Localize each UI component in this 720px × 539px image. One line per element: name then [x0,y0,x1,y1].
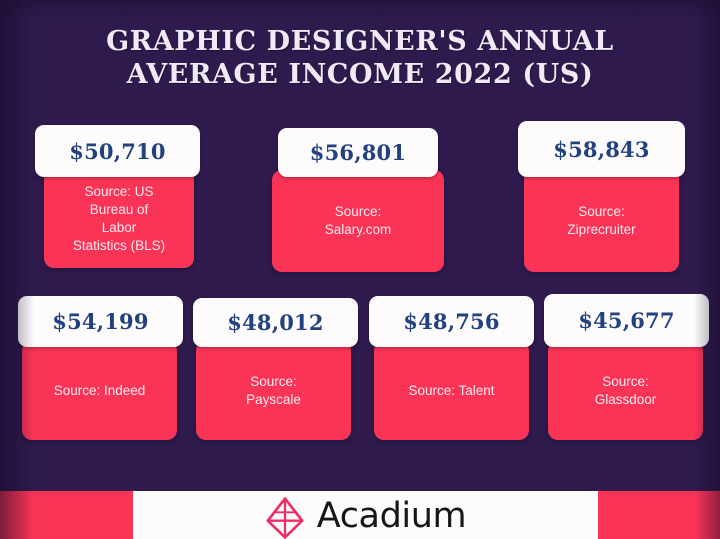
income-card-body: Source: Salary.com [272,170,444,272]
page-title-line-2: AVERAGE INCOME 2022 (US) [0,59,720,92]
income-card-body: Source: Glassdoor [548,341,703,440]
income-card-amount: $50,710 [69,139,165,164]
income-card-source: Source: Payscale [238,373,309,409]
income-card-amount: $48,012 [227,310,323,335]
acadium-diamond-logo-icon [265,497,305,539]
page-title: GRAPHIC DESIGNER'S ANNUAL AVERAGE INCOME… [0,26,720,92]
income-card-body: Source: Talent [374,341,529,440]
income-card-source: Source: Glassdoor [587,373,665,409]
infographic-canvas: GRAPHIC DESIGNER'S ANNUAL AVERAGE INCOME… [0,0,720,539]
income-card-source: Source: Talent [400,382,502,400]
income-card-body: Source: Ziprecruiter [524,170,679,272]
income-card-header: $48,012 [193,298,358,347]
income-card-header: $45,677 [544,294,709,347]
income-card-amount: $48,756 [403,309,499,334]
income-card-header: $48,756 [369,296,534,347]
income-card-body: Source: US Bureau of Labor Statistics (B… [44,170,194,268]
income-card-body: Source: Indeed [22,341,177,440]
income-card-header: $54,199 [18,296,183,347]
income-card-amount: $56,801 [310,140,406,165]
brand-panel: Acadium [133,491,598,539]
income-card-header: $58,843 [518,121,685,177]
income-card-source: Source: Ziprecruiter [559,203,643,239]
income-card-header: $56,801 [278,128,438,177]
footer-band: Acadium [0,491,720,539]
income-card-source: Source: Indeed [46,382,154,400]
income-card-amount: $54,199 [52,309,148,334]
income-card-amount: $58,843 [553,137,649,162]
income-card-amount: $45,677 [578,308,674,333]
income-card-header: $50,710 [35,125,200,177]
page-title-line-1: GRAPHIC DESIGNER'S ANNUAL [0,26,720,59]
brand-name: Acadium [317,499,466,534]
income-card-source: Source: US Bureau of Labor Statistics (B… [65,183,173,254]
income-card-source: Source: Salary.com [317,203,400,239]
income-card-body: Source: Payscale [196,341,351,440]
